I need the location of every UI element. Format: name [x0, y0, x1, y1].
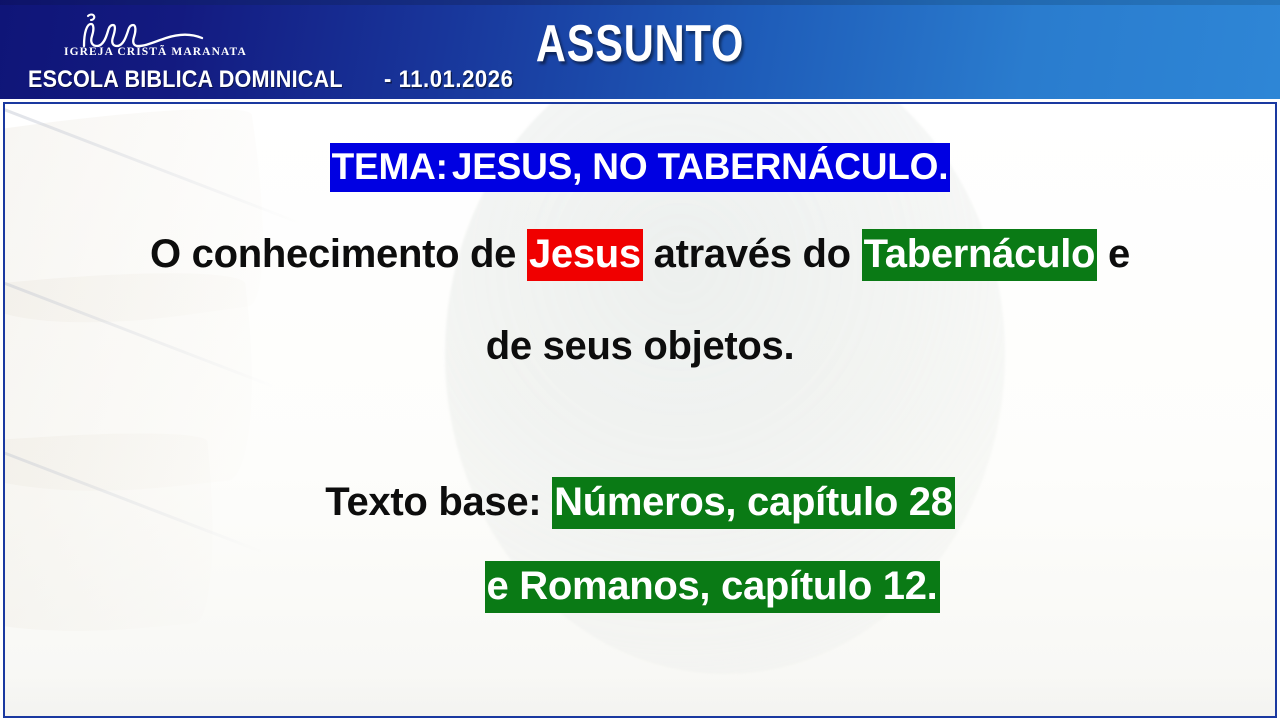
base-text-reference-2: e Romanos, capítulo 12.: [485, 561, 940, 613]
body-line-1: O conhecimento de Jesus através do Taber…: [5, 234, 1275, 274]
body-text-segment-1: O conhecimento de: [150, 232, 527, 276]
page-title: ASSUNTO: [128, 14, 1152, 74]
theme-line: TEMA:JESUS, NO TABERNÁCULO.: [5, 148, 1275, 185]
base-text-line-2: e Romanos, capítulo 12.: [5, 566, 1277, 606]
highlight-tabernaculo: Tabernáculo: [862, 229, 1098, 281]
body-text-segment-2: através do: [643, 232, 862, 276]
base-text-line-1: Texto base: Números, capítulo 28: [5, 482, 1275, 522]
theme-value: JESUS, NO TABERNÁCULO.: [450, 143, 951, 192]
header-top-accent: [0, 0, 1280, 5]
body-line-2: de seus objetos.: [5, 326, 1275, 366]
body-text-segment-3: e: [1097, 232, 1130, 276]
presentation-slide: IGREJA CRISTÃ MARANATA ESCOLA BIBLICA DO…: [0, 0, 1280, 720]
theme-label: TEMA:: [330, 143, 450, 192]
highlight-jesus: Jesus: [527, 229, 643, 281]
slide-text-stack: TEMA:JESUS, NO TABERNÁCULO. O conhecimen…: [5, 104, 1275, 716]
slide-content: TEMA:JESUS, NO TABERNÁCULO. O conhecimen…: [3, 102, 1277, 718]
base-text-reference-1: Números, capítulo 28: [552, 477, 955, 529]
base-text-label: Texto base:: [325, 480, 552, 524]
slide-header: IGREJA CRISTÃ MARANATA ESCOLA BIBLICA DO…: [0, 0, 1280, 99]
